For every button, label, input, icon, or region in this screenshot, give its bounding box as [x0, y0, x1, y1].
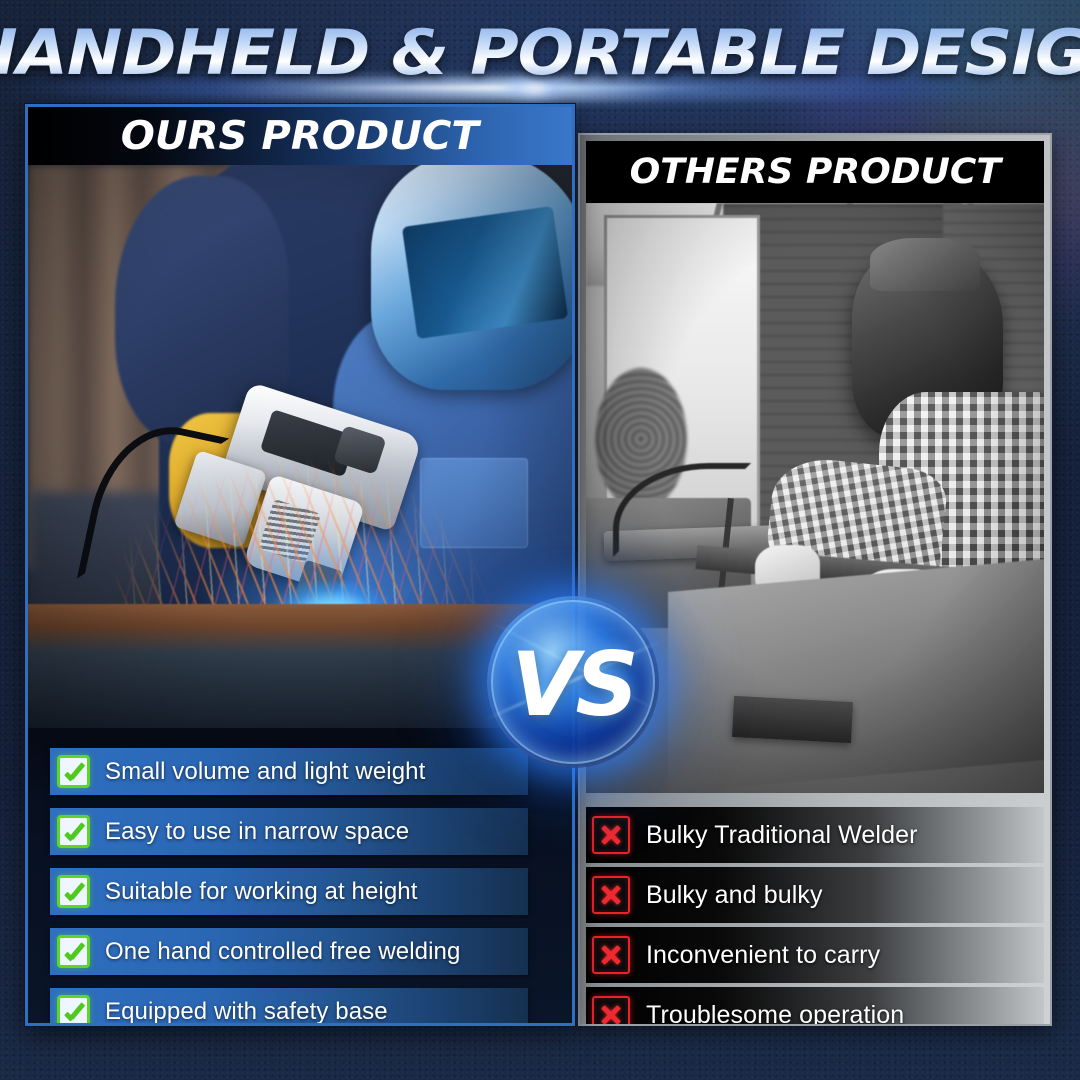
- drawback-label: Troublesome operation: [646, 1001, 904, 1027]
- feature-item: One hand controlled free welding: [50, 928, 528, 975]
- others-product-panel: OTHERS PRODUCT: [578, 133, 1052, 1026]
- ours-product-header-label: OURS PRODUCT: [121, 114, 479, 159]
- others-product-header: OTHERS PRODUCT: [586, 141, 1044, 203]
- drawback-label: Inconvenient to carry: [646, 941, 880, 970]
- drawback-item: Troublesome operation: [586, 987, 1044, 1026]
- feature-item: Easy to use in narrow space: [50, 808, 528, 855]
- feature-label: One hand controlled free welding: [105, 938, 460, 966]
- cross-icon: [592, 996, 630, 1026]
- feature-item: Small volume and light weight: [50, 748, 528, 795]
- ours-product-panel: OURS PRODUCT: [25, 104, 575, 1026]
- drawback-item: Bulky Traditional Welder: [586, 807, 1044, 863]
- others-product-header-label: OTHERS PRODUCT: [629, 152, 1000, 192]
- feature-label: Suitable for working at height: [105, 878, 418, 906]
- vs-label: VS: [487, 598, 659, 770]
- drawback-item: Inconvenient to carry: [586, 927, 1044, 983]
- drawback-label: Bulky and bulky: [646, 881, 823, 910]
- check-icon: [57, 755, 90, 788]
- check-icon: [57, 995, 90, 1026]
- cross-icon: [592, 936, 630, 974]
- feature-label: Small volume and light weight: [105, 758, 425, 786]
- cross-icon: [592, 816, 630, 854]
- drawback-label: Bulky Traditional Welder: [646, 821, 918, 850]
- ours-feature-list: Small volume and light weight Easy to us…: [28, 734, 572, 1023]
- page-title: HANDHELD & PORTABLE DESIGN: [0, 16, 1080, 89]
- feature-label: Easy to use in narrow space: [105, 818, 409, 846]
- check-icon: [57, 875, 90, 908]
- feature-label: Equipped with safety base: [105, 998, 388, 1026]
- others-drawback-list: Bulky Traditional Welder Bulky and bulky…: [586, 807, 1044, 1016]
- check-icon: [57, 935, 90, 968]
- feature-item: Equipped with safety base: [50, 988, 528, 1026]
- vs-badge: VS: [487, 596, 659, 768]
- drawback-item: Bulky and bulky: [586, 867, 1044, 923]
- feature-item: Suitable for working at height: [50, 868, 528, 915]
- cross-icon: [592, 876, 630, 914]
- ours-product-header: OURS PRODUCT: [28, 107, 572, 165]
- check-icon: [57, 815, 90, 848]
